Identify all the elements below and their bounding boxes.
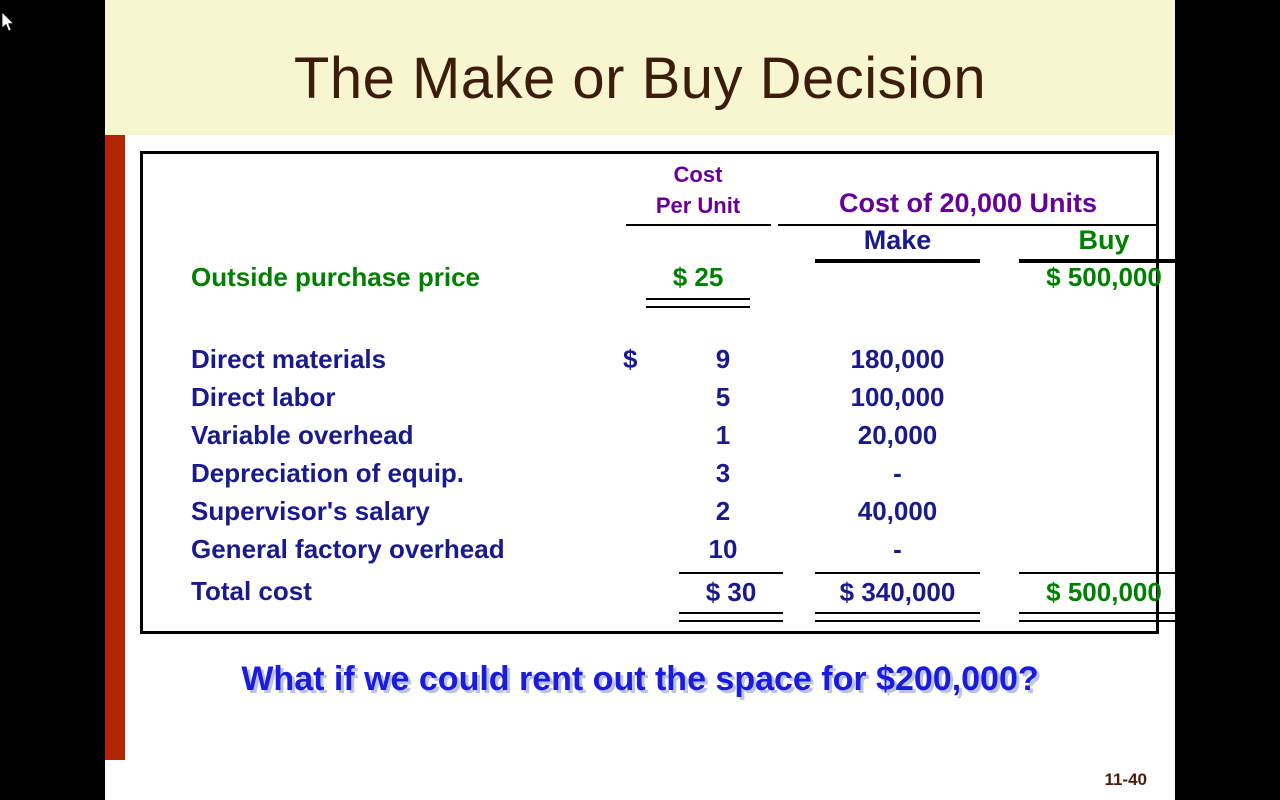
- header-cost-of-units-label: Cost of 20,000 Units: [743, 187, 1193, 220]
- table-row: Supervisor's salary 2 40,000: [143, 496, 1156, 534]
- slide-canvas: The Make or Buy Decision Cost Per Unit C…: [105, 0, 1175, 800]
- row-label: Direct materials: [191, 344, 386, 375]
- row-label: Variable overhead: [191, 420, 414, 451]
- row-make-value: 180,000: [815, 344, 980, 375]
- table-row: Direct labor 5 100,000: [143, 382, 1156, 420]
- total-make-value: $ 340,000: [815, 574, 980, 608]
- row-make-value: -: [815, 458, 980, 489]
- row-buy-value: $ 500,000: [1019, 262, 1189, 293]
- table-row: General factory overhead 10 -: [143, 534, 1156, 572]
- header-cost-of-units: Cost of 20,000 Units: [743, 187, 1193, 226]
- row-per-unit-value: 9: [663, 344, 783, 375]
- total-per-unit-value: $ 30: [679, 574, 783, 608]
- total-make-cell: $ 340,000: [815, 572, 980, 622]
- row-label: Depreciation of equip.: [191, 458, 464, 489]
- financial-table: Cost Per Unit Cost of 20,000 Units Make …: [140, 151, 1159, 634]
- table-row: Depreciation of equip. 3 -: [143, 458, 1156, 496]
- row-make-value: 20,000: [815, 420, 980, 451]
- total-buy-cell: $ 500,000: [1019, 572, 1189, 622]
- double-underline: [646, 298, 750, 308]
- header-buy-label: Buy: [1019, 224, 1189, 257]
- row-make-value: -: [815, 534, 980, 565]
- row-currency-symbol: $: [623, 344, 653, 375]
- page-number: 11-40: [105, 770, 1175, 790]
- mouse-cursor-icon: [2, 12, 16, 34]
- row-per-unit-value: 1: [663, 420, 783, 451]
- header-make: Make: [815, 224, 980, 263]
- header-cost-line1: Cost: [613, 159, 783, 190]
- row-label: Direct labor: [191, 382, 336, 413]
- row-label: Supervisor's salary: [191, 496, 430, 527]
- row-label: General factory overhead: [191, 534, 505, 565]
- slide-screen: The Make or Buy Decision Cost Per Unit C…: [0, 0, 1280, 800]
- header-make-label: Make: [815, 224, 980, 257]
- row-label: Outside purchase price: [191, 262, 480, 293]
- row-per-unit-cell: $ 25: [613, 262, 783, 308]
- total-buy-value: $ 500,000: [1019, 574, 1189, 608]
- total-per-unit-cell: $ 30: [679, 572, 783, 622]
- row-make-value: 100,000: [815, 382, 980, 413]
- double-underline: [815, 612, 980, 622]
- table-detail-rows: Direct materials $ 9 180,000 Direct labo…: [143, 344, 1156, 572]
- question-text: What if we could rent out the space for …: [105, 660, 1175, 699]
- row-per-unit-value: 3: [663, 458, 783, 489]
- table-row-total-cost: Total cost $ 30 $ 340,000 $ 500,000: [143, 572, 1156, 632]
- double-underline: [1019, 612, 1189, 622]
- table-row: Direct materials $ 9 180,000: [143, 344, 1156, 382]
- page-title: The Make or Buy Decision: [105, 0, 1175, 135]
- row-per-unit-value: $ 25: [613, 262, 783, 293]
- row-per-unit-value: 2: [663, 496, 783, 527]
- double-underline: [679, 612, 783, 622]
- header-buy: Buy: [1019, 224, 1189, 263]
- row-per-unit-value: 10: [663, 534, 783, 565]
- table-row: Variable overhead 1 20,000: [143, 420, 1156, 458]
- row-label: Total cost: [191, 576, 312, 607]
- title-band: The Make or Buy Decision: [105, 0, 1175, 135]
- row-make-value: 40,000: [815, 496, 980, 527]
- row-per-unit-value: 5: [663, 382, 783, 413]
- table-row-outside-purchase-price: Outside purchase price $ 25 $ 500,000: [143, 262, 1156, 320]
